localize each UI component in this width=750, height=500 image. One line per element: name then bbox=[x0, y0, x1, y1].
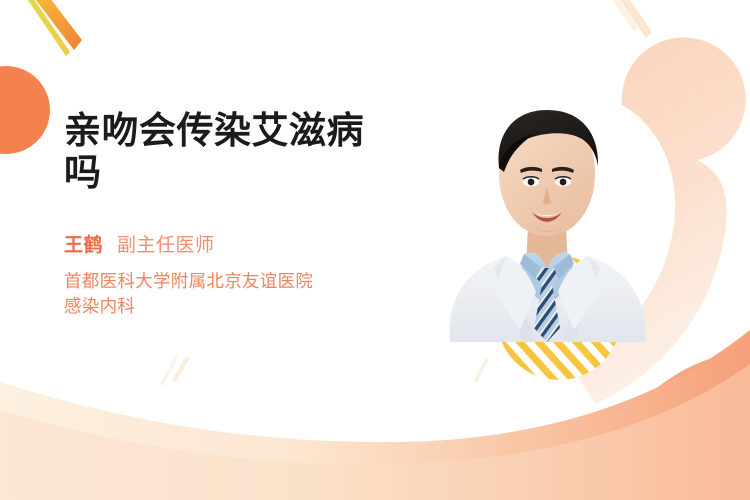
doctor-portrait bbox=[432, 92, 662, 342]
diagonal-stroke-decor-topright bbox=[598, 0, 652, 38]
thin-stroke-decor-bottom bbox=[160, 354, 489, 386]
doctor-byline: 王鹤 副主任医师 bbox=[64, 230, 444, 257]
page-title: 亲吻会传染艾滋病 吗 bbox=[64, 110, 404, 194]
doctor-department: 感染内科 bbox=[64, 294, 444, 319]
doctor-hospital: 首都医科大学附属北京友谊医院 bbox=[64, 269, 444, 294]
doctor-rank: 副主任医师 bbox=[117, 230, 215, 257]
doctor-affiliation: 首都医科大学附属北京友谊医院 感染内科 bbox=[64, 269, 444, 320]
video-cover: 亲吻会传染艾滋病 吗 王鹤 副主任医师 首都医科大学附属北京友谊医院 感染内科 bbox=[0, 0, 750, 500]
doctor-name: 王鹤 bbox=[64, 230, 103, 257]
diagonal-stroke-decor-topleft bbox=[10, 0, 82, 56]
salmon-blob-decor bbox=[566, 352, 750, 500]
text-block: 亲吻会传染艾滋病 吗 王鹤 副主任医师 首都医科大学附属北京友谊医院 感染内科 bbox=[64, 110, 444, 319]
orange-circle-decor bbox=[0, 66, 50, 154]
bottom-wave-decor bbox=[0, 330, 750, 500]
